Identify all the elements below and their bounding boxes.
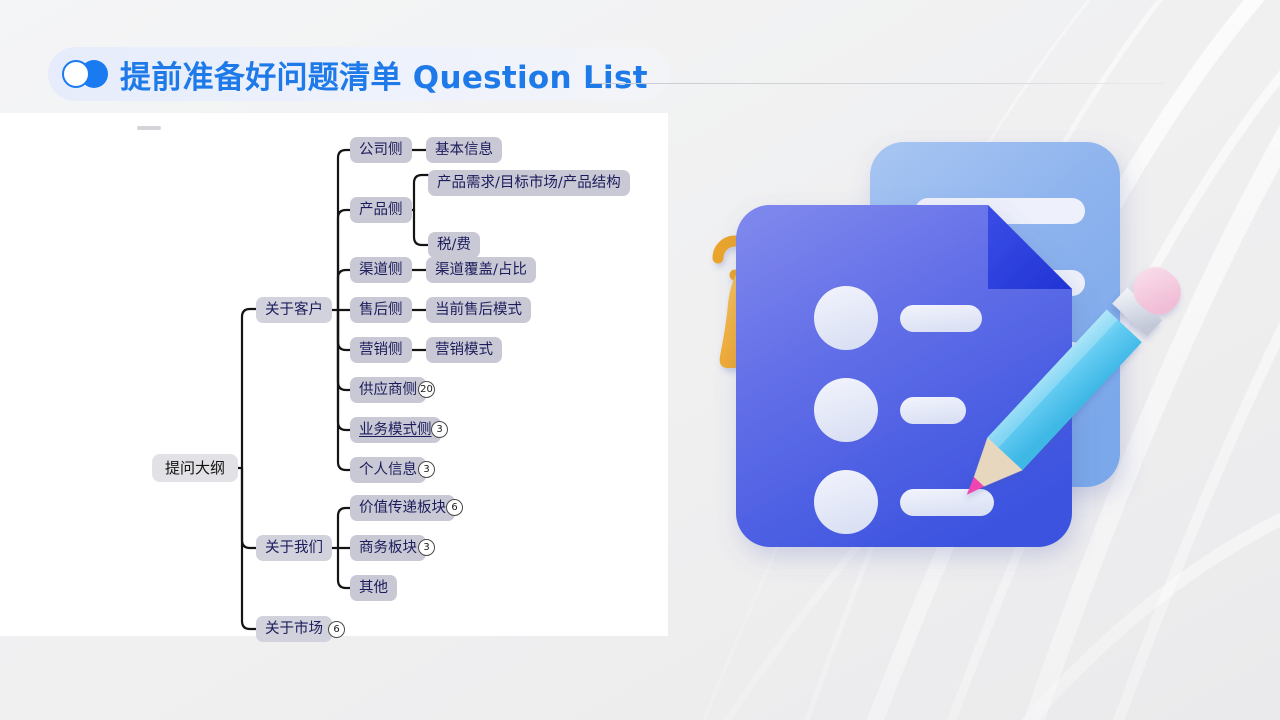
mindmap-root-node[interactable]: 提问大纲 xyxy=(152,454,238,482)
mindmap-count-business-section[interactable]: 3 xyxy=(418,539,435,556)
slide-title-bar: 提前准备好问题清单 Question List xyxy=(48,47,670,101)
mindmap-node-marketing-side[interactable]: 营销侧 xyxy=(350,337,412,363)
mindmap-node-company-side[interactable]: 公司侧 xyxy=(350,137,412,163)
mindmap-node-about-market[interactable]: 关于市场 xyxy=(256,616,332,642)
mindmap-count-business-model-side[interactable]: 3 xyxy=(431,421,448,438)
mindmap-node-current-aftersales[interactable]: 当前售后模式 xyxy=(426,297,531,323)
two-circles-icon xyxy=(62,60,108,88)
mindmap-count-about-market[interactable]: 6 xyxy=(328,621,345,638)
title-underline xyxy=(590,83,1165,84)
mindmap-count-value-delivery[interactable]: 6 xyxy=(446,499,463,516)
mindmap-node-channel-side[interactable]: 渠道侧 xyxy=(350,257,412,283)
mindmap-node-other[interactable]: 其他 xyxy=(350,575,397,601)
mindmap-node-aftersales-side[interactable]: 售后侧 xyxy=(350,297,412,323)
mindmap-node-personal-info[interactable]: 个人信息 xyxy=(350,457,426,483)
mindmap-node-value-delivery[interactable]: 价值传递板块 xyxy=(350,495,455,521)
mindmap-node-business-section[interactable]: 商务板块 xyxy=(350,535,426,561)
mindmap-node-tax-fee[interactable]: 税/费 xyxy=(428,232,480,258)
mindmap-node-channel-coverage[interactable]: 渠道覆盖/占比 xyxy=(426,257,536,283)
mindmap-count-personal-info[interactable]: 3 xyxy=(418,461,435,478)
mindmap-node-business-model-side[interactable]: 业务模式侧 xyxy=(350,417,441,443)
mindmap-node-basic-info[interactable]: 基本信息 xyxy=(426,137,502,163)
mindmap-node-product-demand[interactable]: 产品需求/目标市场/产品结构 xyxy=(428,170,630,196)
mindmap-panel: 提问大纲 关于客户 关于我们 关于市场 6 公司侧 基本信息 产品侧 产品需求/… xyxy=(0,113,668,636)
3d-checklist-illustration xyxy=(660,130,1220,630)
mindmap-count-supplier-side[interactable]: 20 xyxy=(418,381,435,398)
mindmap-node-about-customer[interactable]: 关于客户 xyxy=(256,297,332,323)
mindmap-node-about-us[interactable]: 关于我们 xyxy=(256,535,332,561)
mindmap-node-supplier-side[interactable]: 供应商侧 xyxy=(350,377,426,403)
mindmap-node-marketing-mode[interactable]: 营销模式 xyxy=(426,337,502,363)
front-card xyxy=(736,205,1072,547)
mindmap-node-product-side[interactable]: 产品侧 xyxy=(350,197,412,223)
page-title: 提前准备好问题清单 Question List xyxy=(120,52,648,97)
